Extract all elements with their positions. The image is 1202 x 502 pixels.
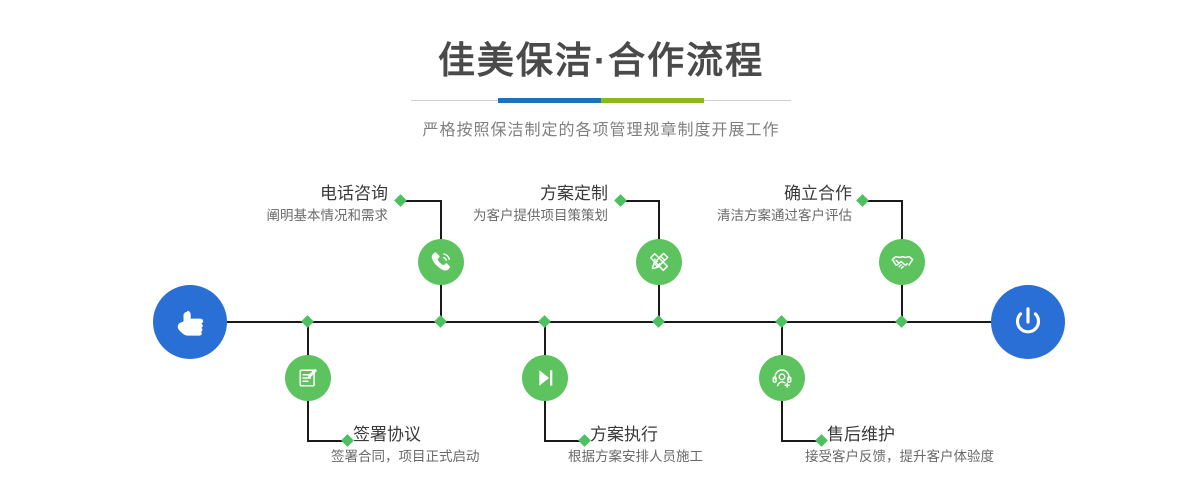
step-6-axis-diamond: [775, 315, 788, 328]
play-execute-icon: [532, 365, 558, 391]
step-6-label: 售后维护 接受客户反馈，提升客户体验度: [827, 424, 1157, 468]
timeline-end-node[interactable]: [991, 285, 1065, 359]
document-sign-icon: [295, 365, 321, 391]
step-3-label: 方案定制 为客户提供项目策策划: [340, 183, 608, 227]
step-5-desc: 清洁方案通过客户评估: [590, 205, 852, 227]
step-1-node[interactable]: [418, 239, 464, 285]
step-3-node[interactable]: [636, 239, 682, 285]
step-1-axis-diamond: [434, 315, 447, 328]
step-2-label-diamond: [341, 434, 354, 447]
step-5-label: 确立合作 清洁方案通过客户评估: [590, 183, 852, 227]
step-2-node[interactable]: [285, 355, 331, 401]
customer-support-add-icon: [769, 365, 795, 391]
step-5-label-diamond: [856, 194, 869, 207]
step-3-title: 方案定制: [340, 183, 608, 205]
step-6-title: 售后维护: [827, 424, 1157, 446]
step-5-node[interactable]: [879, 239, 925, 285]
process-timeline: 电话咨询 阐明基本情况和需求 签署协议 签署合同，项目正式启动: [0, 0, 1202, 502]
handshake-icon: [889, 249, 916, 276]
step-6-node[interactable]: [759, 355, 805, 401]
power-icon: [1007, 301, 1049, 343]
timeline-start-node[interactable]: [153, 285, 227, 359]
step-3-desc: 为客户提供项目策策划: [340, 205, 608, 227]
step-6-desc: 接受客户反馈，提升客户体验度: [805, 446, 1157, 468]
phone-call-icon: [428, 249, 454, 275]
step-3-axis-diamond: [652, 315, 665, 328]
step-5-axis-diamond: [895, 315, 908, 328]
pencil-ruler-icon: [646, 249, 672, 275]
step-4-axis-diamond: [538, 315, 551, 328]
step-2-axis-diamond: [301, 315, 314, 328]
pointing-hand-icon: [170, 302, 210, 342]
step-5-title: 确立合作: [590, 183, 852, 205]
step-4-node[interactable]: [522, 355, 568, 401]
